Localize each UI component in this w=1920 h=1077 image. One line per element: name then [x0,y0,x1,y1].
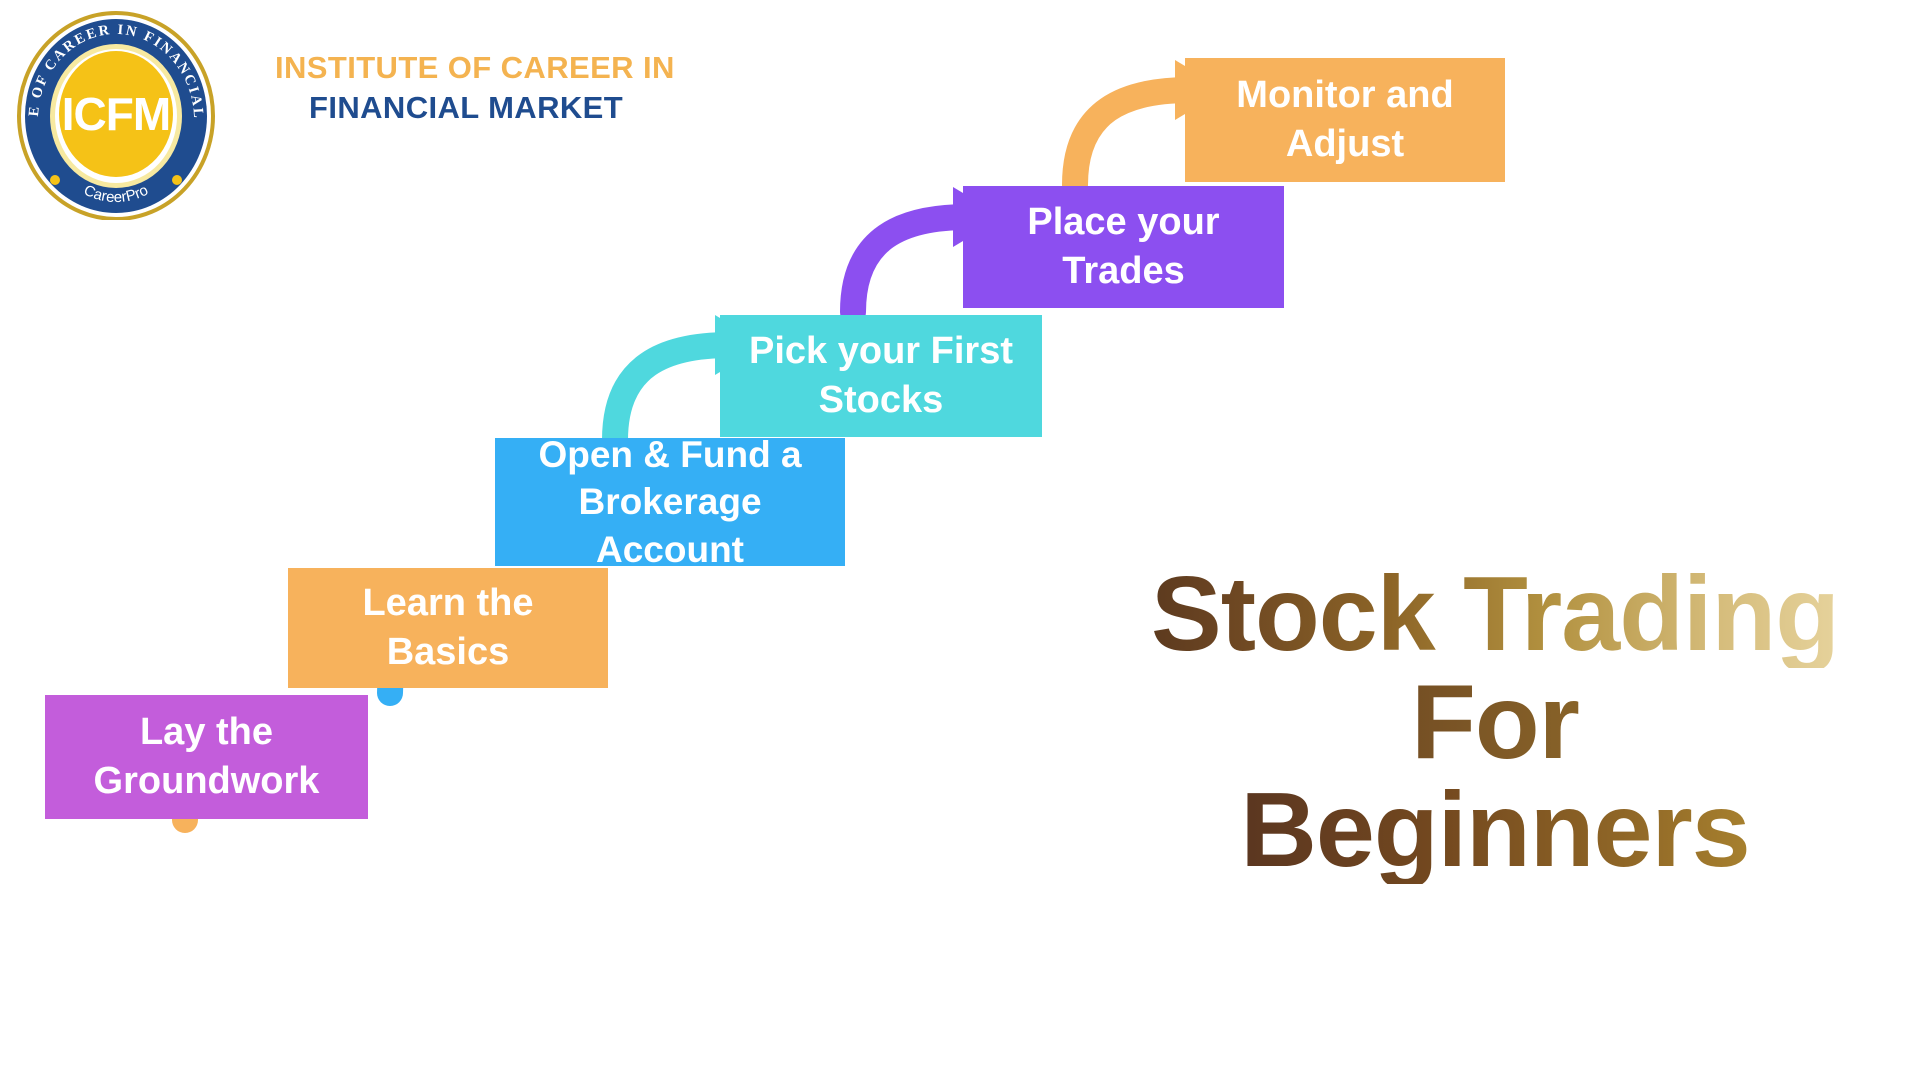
step-label-line-1: Monitor and [1236,71,1453,120]
step-label-line-2: Basics [362,628,533,677]
step-label-line-1: Open & Fund a [505,431,835,478]
step-box-pick-your-first-stocks[interactable]: Pick your First Stocks [720,315,1042,437]
svg-text:ICFM: ICFM [62,88,170,140]
step-label-line-1: Learn the [362,579,533,628]
step-box-open-and-fund-a-brokerage-account[interactable]: Open & Fund a Brokerage Account [495,438,845,566]
brand-line-1: INSTITUTE OF CAREER IN [275,48,995,88]
icfm-logo: INSTITUTE OF CAREER IN FINANCIAL MARKET … [10,8,222,220]
step-box-monitor-and-adjust[interactable]: Monitor and Adjust [1185,58,1505,182]
step-label-line-2: Brokerage Account [505,478,835,573]
step-box-learn-the-basics[interactable]: Learn the Basics [288,568,608,688]
step-label-line-2: Trades [1027,247,1219,296]
title-line-2: For [1060,668,1920,776]
brand-line-2: FINANCIAL MARKET [275,88,995,128]
step-label-line-1: Place your [1027,198,1219,247]
step-label-line-1: Lay the [94,708,320,757]
infographic-canvas: INSTITUTE OF CAREER IN FINANCIAL MARKET … [0,0,1920,1077]
step-label-line-2: Stocks [749,376,1013,425]
step-label-line-2: Groundwork [94,757,320,806]
step-box-lay-the-groundwork[interactable]: Lay the Groundwork [45,695,368,819]
title-line-1: Stock Trading [1060,560,1920,668]
step-label-line-1: Pick your First [749,327,1013,376]
step-label-line-2: Adjust [1236,120,1453,169]
brand-name: INSTITUTE OF CAREER IN FINANCIAL MARKET [275,48,995,127]
title-line-3: Beginners [1060,776,1920,884]
step-box-place-your-trades[interactable]: Place your Trades [963,186,1284,308]
page-title: Stock Trading For Beginners [1060,560,1920,884]
